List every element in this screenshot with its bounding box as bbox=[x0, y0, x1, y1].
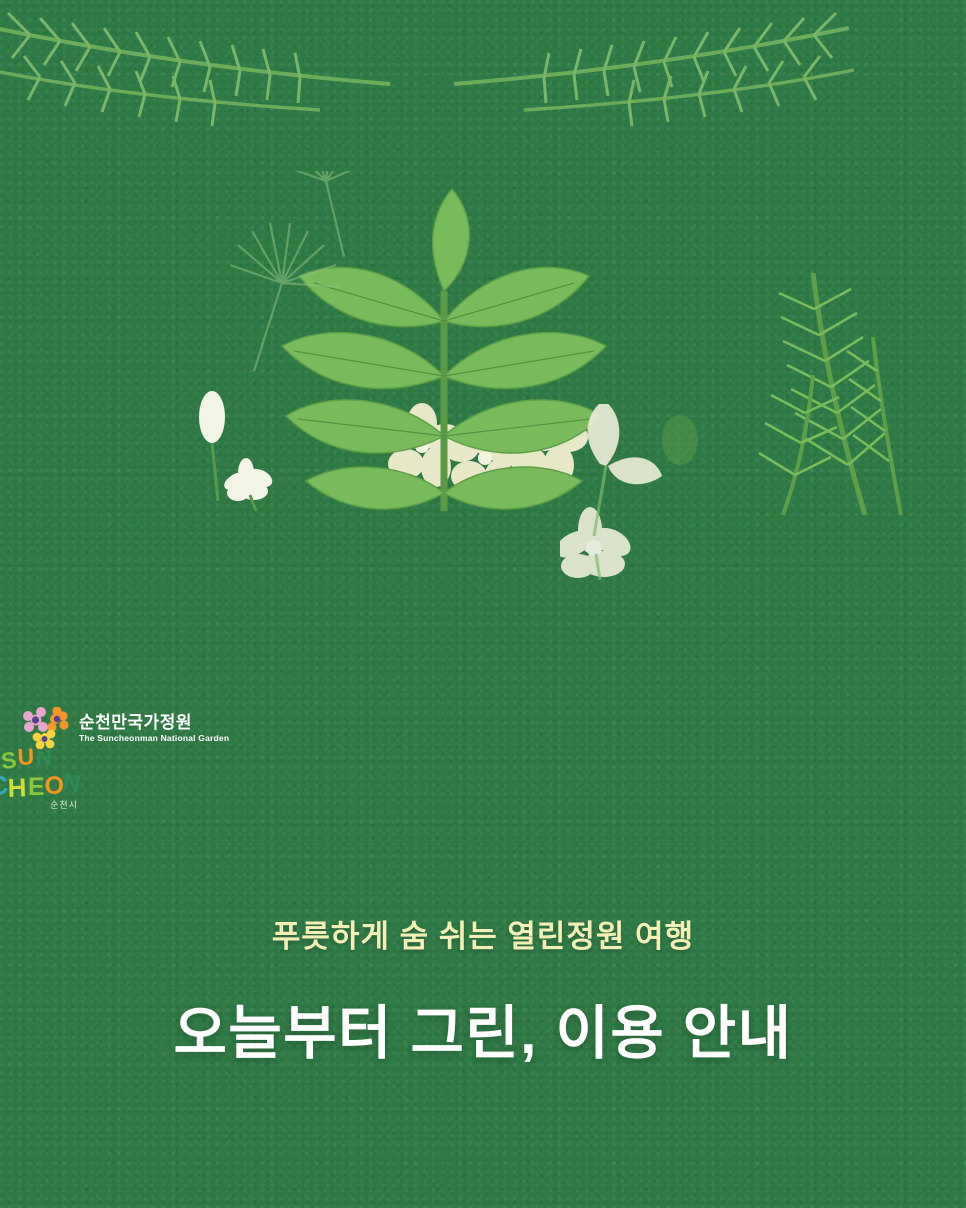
svg-text:N: N bbox=[36, 745, 52, 770]
suncheon-city-logo: S U N C H E O N 순천시 bbox=[0, 743, 84, 815]
logo-city-name: 순천시 bbox=[50, 798, 78, 811]
fern-branch-left-icon bbox=[0, 10, 410, 160]
cream-flowers-decor-icon bbox=[560, 404, 750, 584]
suncheonman-garden-logo: 순천만국가정원 The Suncheonman National Garden bbox=[22, 707, 966, 749]
poster-canvas: 순천만국가정원 The Suncheonman National Garden … bbox=[0, 0, 966, 1208]
svg-text:N: N bbox=[61, 768, 83, 798]
page-title: 오늘부터 그린, 이용 안내 bbox=[0, 986, 966, 1070]
svg-text:E: E bbox=[28, 773, 45, 801]
svg-text:H: H bbox=[7, 772, 27, 803]
logo-english-name: The Suncheonman National Garden bbox=[79, 734, 229, 743]
poster-subtitle: 푸릇하게 숨 쉬는 열린정원 여행 bbox=[0, 911, 966, 956]
rosemary-sprig-bottom-right-icon bbox=[653, 185, 903, 515]
logo-korean-name: 순천만국가정원 bbox=[79, 714, 229, 731]
flower-trio-icon bbox=[380, 403, 590, 503]
fern-branch-right-icon bbox=[434, 10, 854, 160]
leafy-plant-bottom-left-icon bbox=[194, 171, 614, 511]
svg-text:U: U bbox=[17, 743, 35, 770]
